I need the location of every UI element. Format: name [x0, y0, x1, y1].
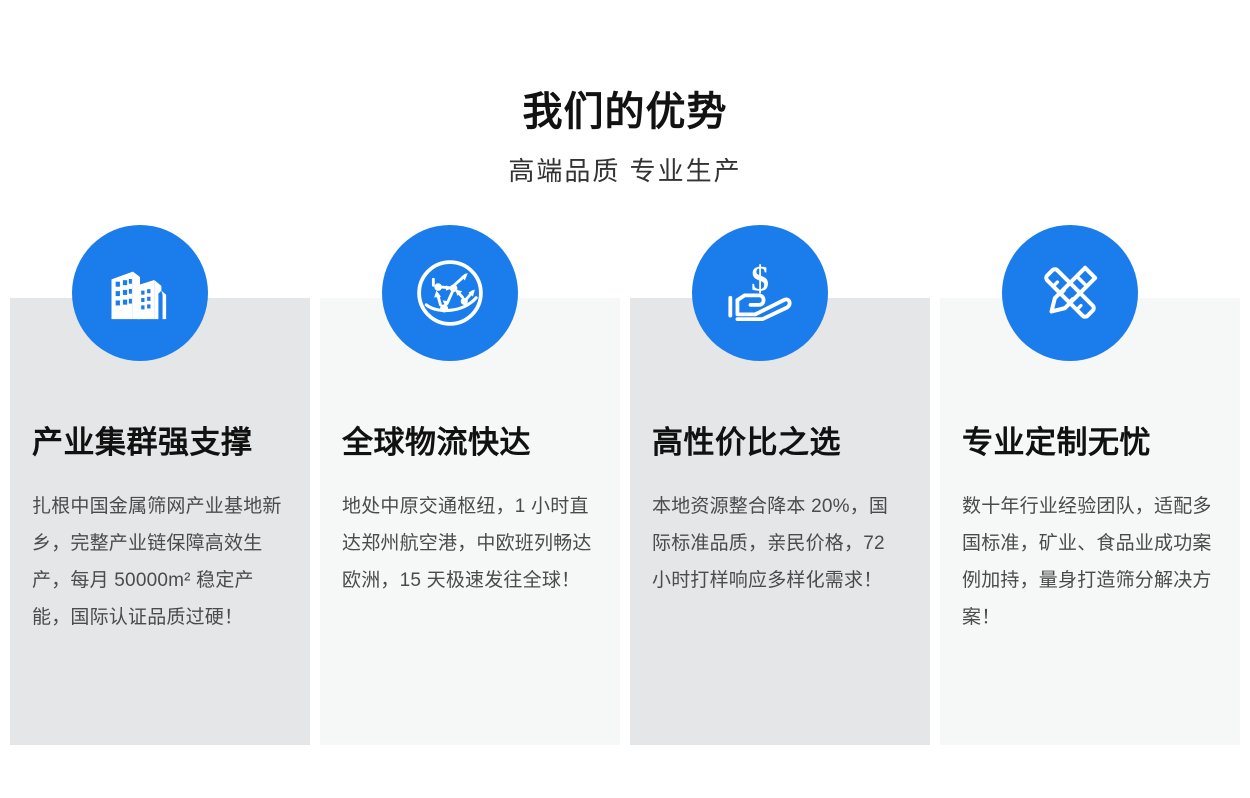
advantage-card-description: 地处中原交通枢纽，1 小时直达郑州航空港，中欧班列畅达欧洲，15 天极速发往全球… [342, 461, 598, 599]
advantages-section: 我们的优势 高端品质 专业生产 [0, 0, 1250, 798]
advantage-card-list: 产业集群强支撑 扎根中国金属筛网产业基地新乡，完整产业链保障高效生产，每月 50… [10, 298, 1240, 745]
advantage-card-2[interactable]: 全球物流快达 地处中原交通枢纽，1 小时直达郑州航空港，中欧班列畅达欧洲，15 … [320, 298, 620, 745]
svg-text:$: $ [751, 259, 769, 299]
advantage-card-3[interactable]: $ 高性价比之选 本地资源整合降本 20%，国际标准品质，亲民价格，72 小时打… [630, 298, 930, 745]
page-subtitle: 高端品质 专业生产 [0, 134, 1250, 186]
pencil-ruler-icon [1002, 225, 1138, 361]
section-header: 我们的优势 高端品质 专业生产 [0, 0, 1250, 186]
advantage-card-1[interactable]: 产业集群强支撑 扎根中国金属筛网产业基地新乡，完整产业链保障高效生产，每月 50… [10, 298, 310, 745]
advantage-card-description: 本地资源整合降本 20%，国际标准品质，亲民价格，72 小时打样响应多样化需求！ [652, 461, 908, 599]
advantage-card-4[interactable]: 专业定制无忧 数十年行业经验团队，适配多国标准，矿业、食品业成功案例加持，量身打… [940, 298, 1240, 745]
hand-dollar-icon: $ [692, 225, 828, 361]
advantage-card-description: 扎根中国金属筛网产业基地新乡，完整产业链保障高效生产，每月 50000m² 稳定… [32, 461, 288, 636]
advantage-card-description: 数十年行业经验团队，适配多国标准，矿业、食品业成功案例加持，量身打造筛分解决方案… [962, 461, 1218, 636]
buildings-icon [72, 225, 208, 361]
page-title: 我们的优势 [0, 0, 1250, 134]
global-network-icon [382, 225, 518, 361]
